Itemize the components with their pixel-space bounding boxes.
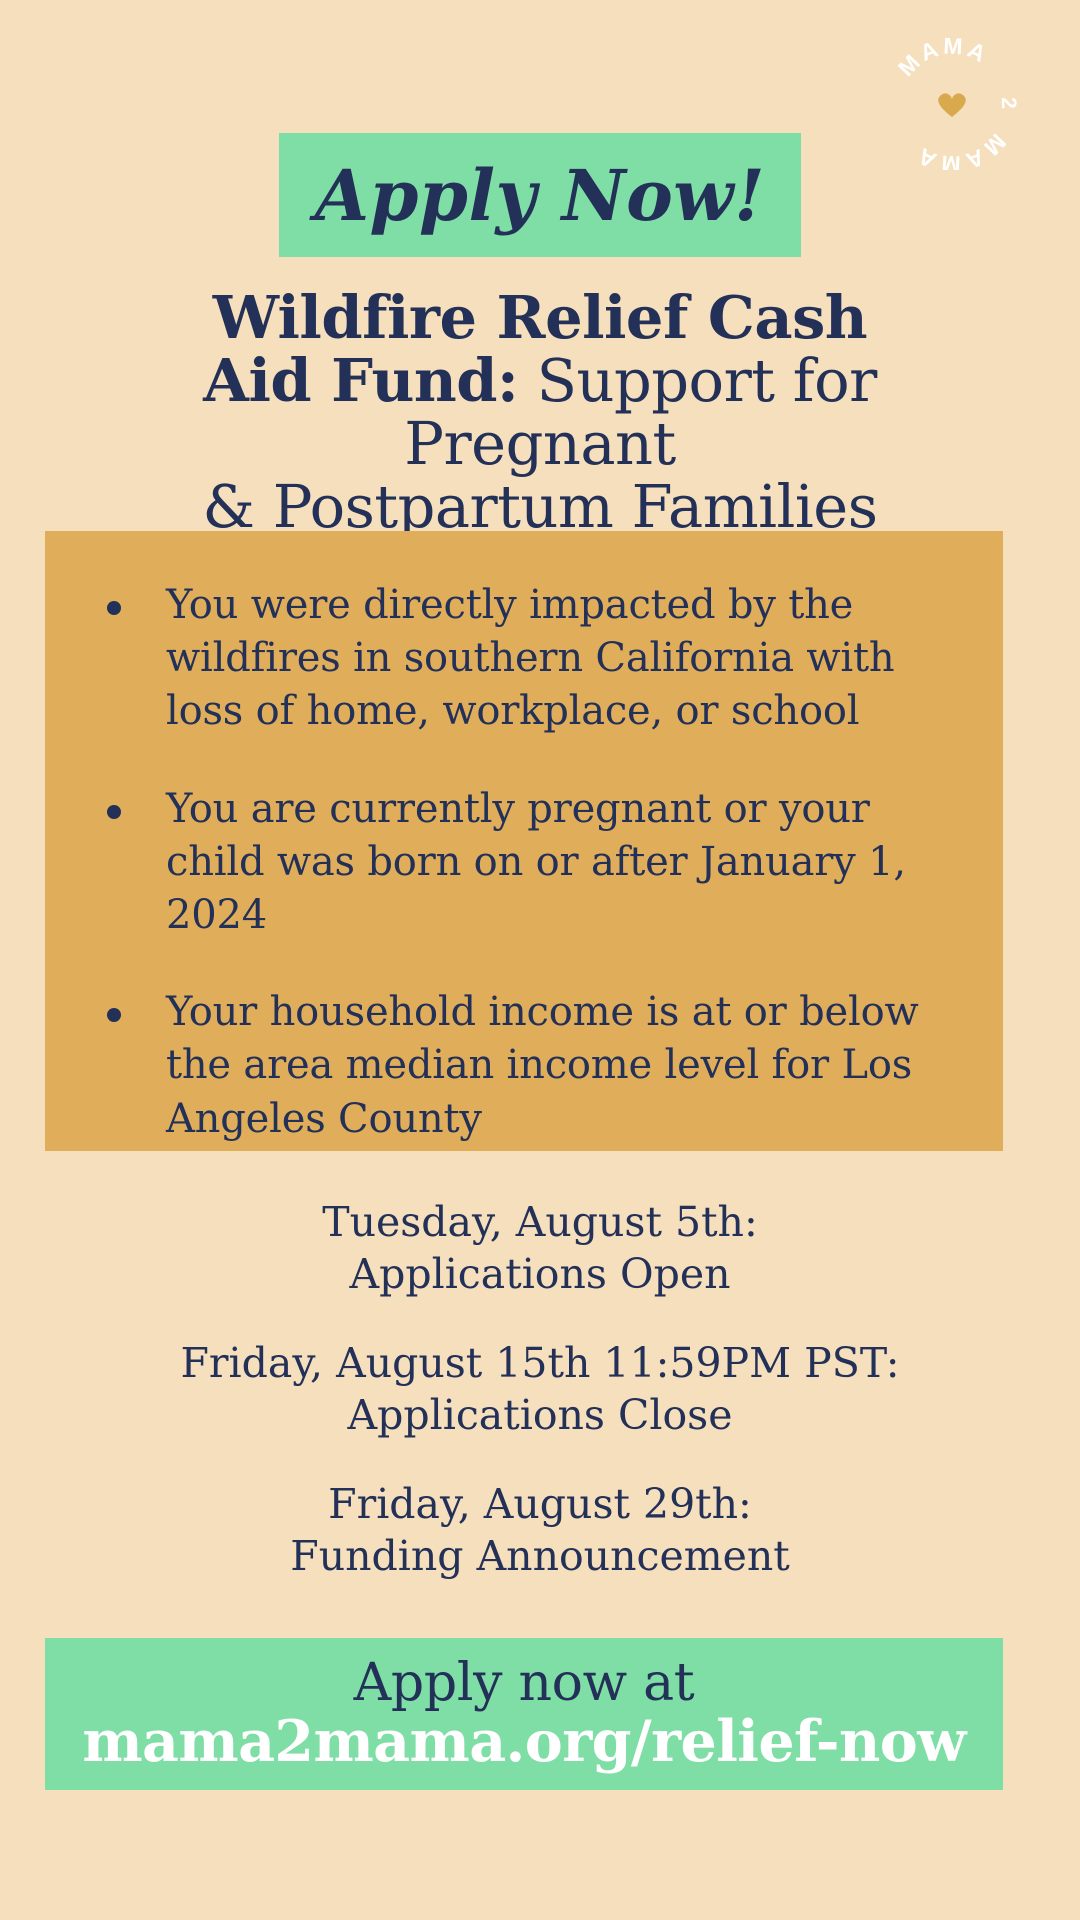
date-label-open: Tuesday, August 5th: <box>60 1196 1020 1248</box>
date-entry-open: Tuesday, August 5th: Applications Open <box>60 1196 1020 1301</box>
apply-now-banner-wrap: Apply Now! <box>0 133 1080 257</box>
criteria-text-1: You were directly impacted by the wildfi… <box>166 579 963 739</box>
bullet-dot-icon <box>107 601 121 615</box>
bullet-dot-icon <box>107 1008 121 1022</box>
apply-now-banner[interactable]: Apply Now! <box>279 133 802 257</box>
apply-cta-box[interactable]: Apply now at mama2mama.org/relief-now <box>45 1638 1003 1790</box>
bullet-dot-icon <box>107 805 121 819</box>
list-item: Your household income is at or below the… <box>107 986 963 1146</box>
date-entry-announcement: Friday, August 29th: Funding Announcemen… <box>60 1478 1020 1583</box>
cta-url-link[interactable]: mama2mama.org/relief-now <box>82 1712 965 1772</box>
page-title: Wildfire Relief Cash Aid Fund: Support f… <box>60 286 1020 539</box>
svg-text:2: 2 <box>997 97 1018 110</box>
date-label-announcement: Friday, August 29th: <box>60 1478 1020 1530</box>
heart-icon <box>938 93 965 117</box>
date-status-open: Applications Open <box>60 1248 1020 1300</box>
date-entry-close: Friday, August 15th 11:59PM PST: Applica… <box>60 1337 1020 1442</box>
cta-prompt-text: Apply now at <box>354 1656 695 1710</box>
headline-bold-1: Wildfire Relief Cash <box>213 283 867 352</box>
criteria-text-3: Your household income is at or below the… <box>166 986 963 1146</box>
headline-line-3: & Postpartum Families <box>60 475 1020 538</box>
date-label-close: Friday, August 15th 11:59PM PST: <box>60 1337 1020 1389</box>
timeline-dates: Tuesday, August 5th: Applications Open F… <box>60 1196 1020 1583</box>
date-status-announcement: Funding Announcement <box>60 1530 1020 1582</box>
list-item: You were directly impacted by the wildfi… <box>107 579 963 739</box>
date-status-close: Applications Close <box>60 1389 1020 1441</box>
criteria-text-2: You are currently pregnant or your child… <box>166 783 963 943</box>
headline-line-1: Wildfire Relief Cash <box>60 286 1020 349</box>
headline-bold-2: Aid Fund: <box>203 346 518 415</box>
svg-text:MAMA: MAMA <box>893 38 994 81</box>
eligibility-criteria-box: You were directly impacted by the wildfi… <box>45 531 1003 1151</box>
list-item: You are currently pregnant or your child… <box>107 783 963 943</box>
headline-line-2: Aid Fund: Support for Pregnant <box>60 349 1020 475</box>
poster-root: MAMA MAMA 2 Apply Now! Wildfire Relief C… <box>0 0 1080 1920</box>
